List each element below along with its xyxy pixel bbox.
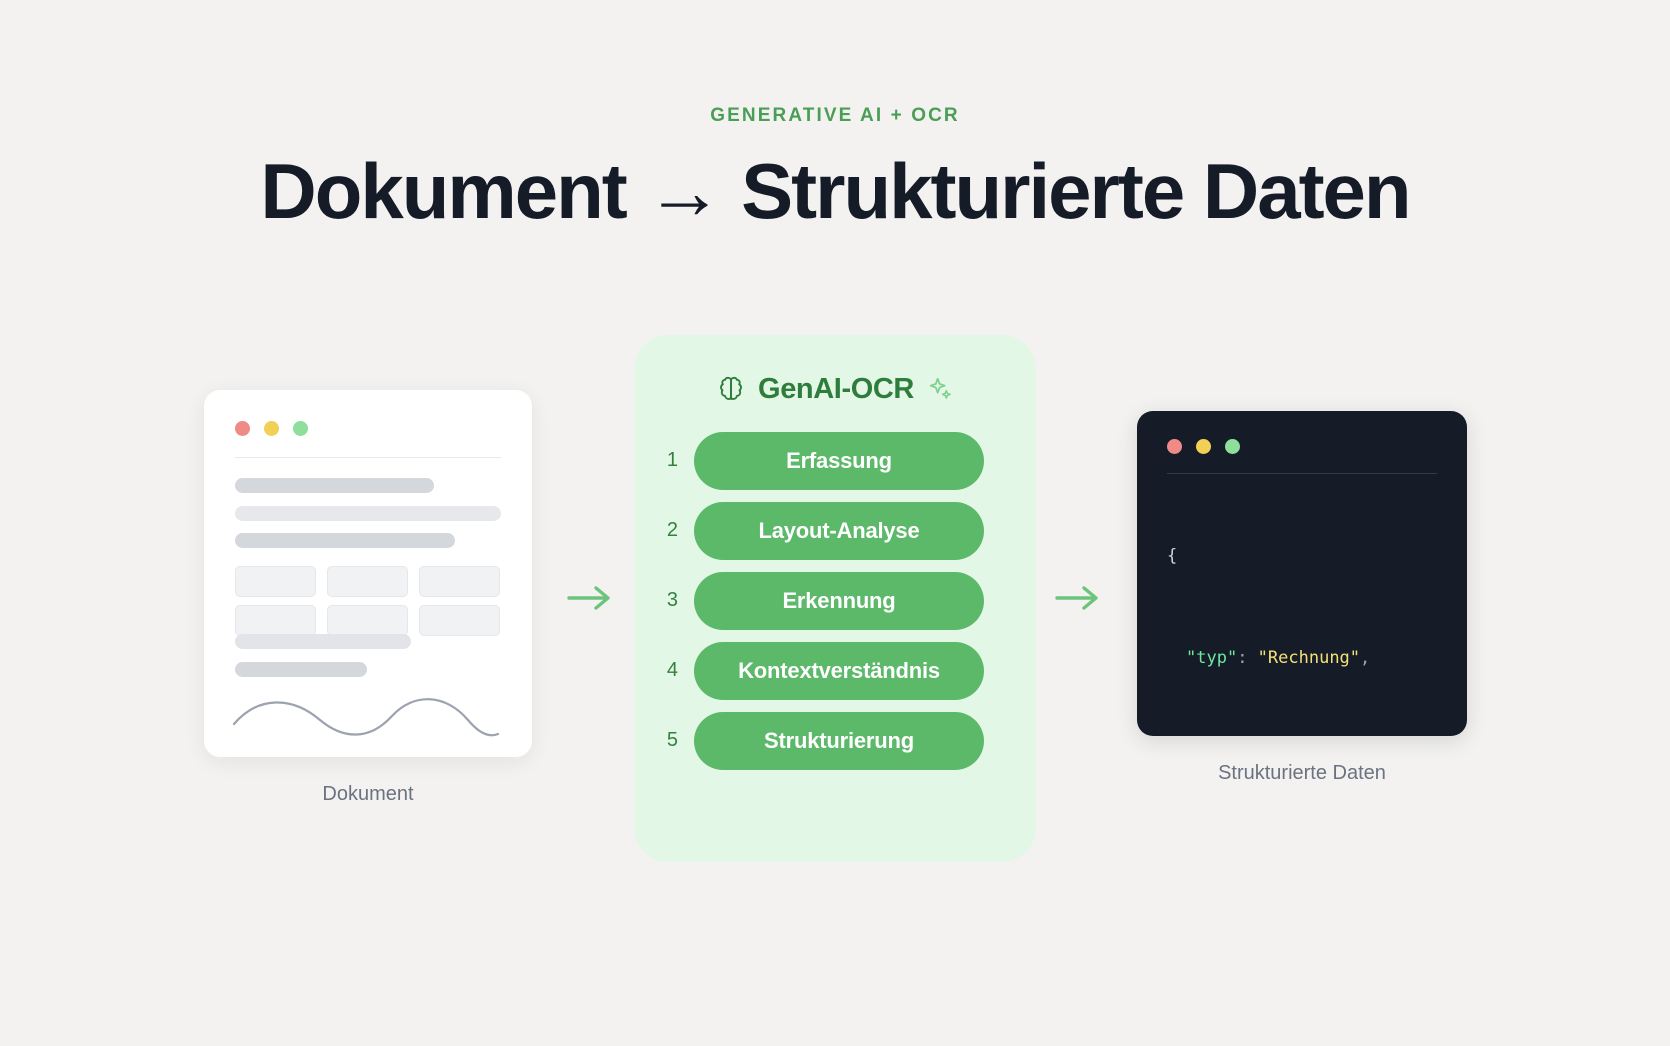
placeholder-field-box (419, 566, 500, 597)
json-key: "typ" (1186, 648, 1237, 668)
output-column: { "typ": "Rechnung", "nr": "2024-031", "… (1122, 411, 1482, 785)
placeholder-text-bar (235, 478, 434, 493)
flow-arrow-1 (548, 581, 634, 615)
json-divider (1167, 473, 1437, 474)
pipeline-step[interactable]: 1 Erfassung (662, 432, 1036, 490)
pipeline-step-list: 1 Erfassung 2 Layout-Analyse 3 Erkennung… (634, 432, 1036, 770)
json-output-card: { "typ": "Rechnung", "nr": "2024-031", "… (1137, 411, 1467, 736)
step-number: 1 (662, 449, 678, 472)
json-code-block: { "typ": "Rechnung", "nr": "2024-031", "… (1167, 493, 1391, 736)
flow-arrow-2 (1036, 581, 1122, 615)
document-divider (235, 457, 501, 458)
minimize-dot-icon (1196, 439, 1211, 454)
pipeline-step[interactable]: 2 Layout-Analyse (662, 502, 1036, 560)
document-caption: Dokument (322, 783, 413, 806)
document-column: Dokument (188, 390, 548, 806)
signature-squiggle-icon (232, 690, 504, 748)
maximize-dot-icon (1225, 439, 1240, 454)
json-separator: : (1237, 648, 1257, 668)
infographic-canvas: GENERATIVE AI + OCR Dokument → Strukturi… (0, 0, 1670, 1046)
arrow-right-icon (1053, 581, 1105, 615)
json-value: "Rechnung" (1258, 648, 1360, 668)
placeholder-text-bar (235, 662, 367, 677)
step-label[interactable]: Erfassung (694, 432, 984, 490)
minimize-dot-icon (264, 421, 279, 436)
placeholder-text-bar (235, 506, 501, 521)
sparkles-icon (926, 375, 954, 403)
placeholder-text-bar (235, 634, 411, 649)
document-card (204, 390, 532, 757)
step-label[interactable]: Layout-Analyse (694, 502, 984, 560)
pipeline-panel: GenAI-OCR 1 Erfassung 2 Layout-Analyse (634, 335, 1036, 862)
maximize-dot-icon (293, 421, 308, 436)
step-number: 4 (662, 659, 678, 682)
step-number: 5 (662, 729, 678, 752)
close-dot-icon (235, 421, 250, 436)
close-dot-icon (1167, 439, 1182, 454)
placeholder-field-box (235, 605, 316, 636)
json-field-row: "typ": "Rechnung", (1167, 646, 1391, 672)
pipeline-title: GenAI-OCR (758, 373, 914, 406)
json-open-brace: { (1167, 546, 1177, 566)
pipeline-step[interactable]: 3 Erkennung (662, 572, 1036, 630)
eyebrow-label: GENERATIVE AI + OCR (0, 105, 1670, 127)
json-window-dots (1167, 439, 1240, 454)
placeholder-field-box (327, 605, 408, 636)
page-title: Dokument → Strukturierte Daten (0, 146, 1670, 237)
arrow-right-icon (565, 581, 617, 615)
step-label[interactable]: Kontextverständnis (694, 642, 984, 700)
document-window-dots (235, 421, 308, 436)
pipeline-column: GenAI-OCR 1 Erfassung 2 Layout-Analyse (634, 335, 1036, 862)
json-comma: , (1360, 648, 1370, 668)
pipeline-header: GenAI-OCR (716, 373, 954, 406)
step-number: 2 (662, 519, 678, 542)
pipeline-flow: Dokument GenAI-O (0, 318, 1670, 878)
placeholder-field-box (235, 566, 316, 597)
step-label[interactable]: Strukturierung (694, 712, 984, 770)
brain-icon (716, 374, 746, 404)
placeholder-field-box (419, 605, 500, 636)
step-label[interactable]: Erkennung (694, 572, 984, 630)
placeholder-text-bar (235, 533, 455, 548)
pipeline-step[interactable]: 4 Kontextverständnis (662, 642, 1036, 700)
placeholder-field-box (327, 566, 408, 597)
output-caption: Strukturierte Daten (1218, 762, 1386, 785)
step-number: 3 (662, 589, 678, 612)
pipeline-step[interactable]: 5 Strukturierung (662, 712, 1036, 770)
